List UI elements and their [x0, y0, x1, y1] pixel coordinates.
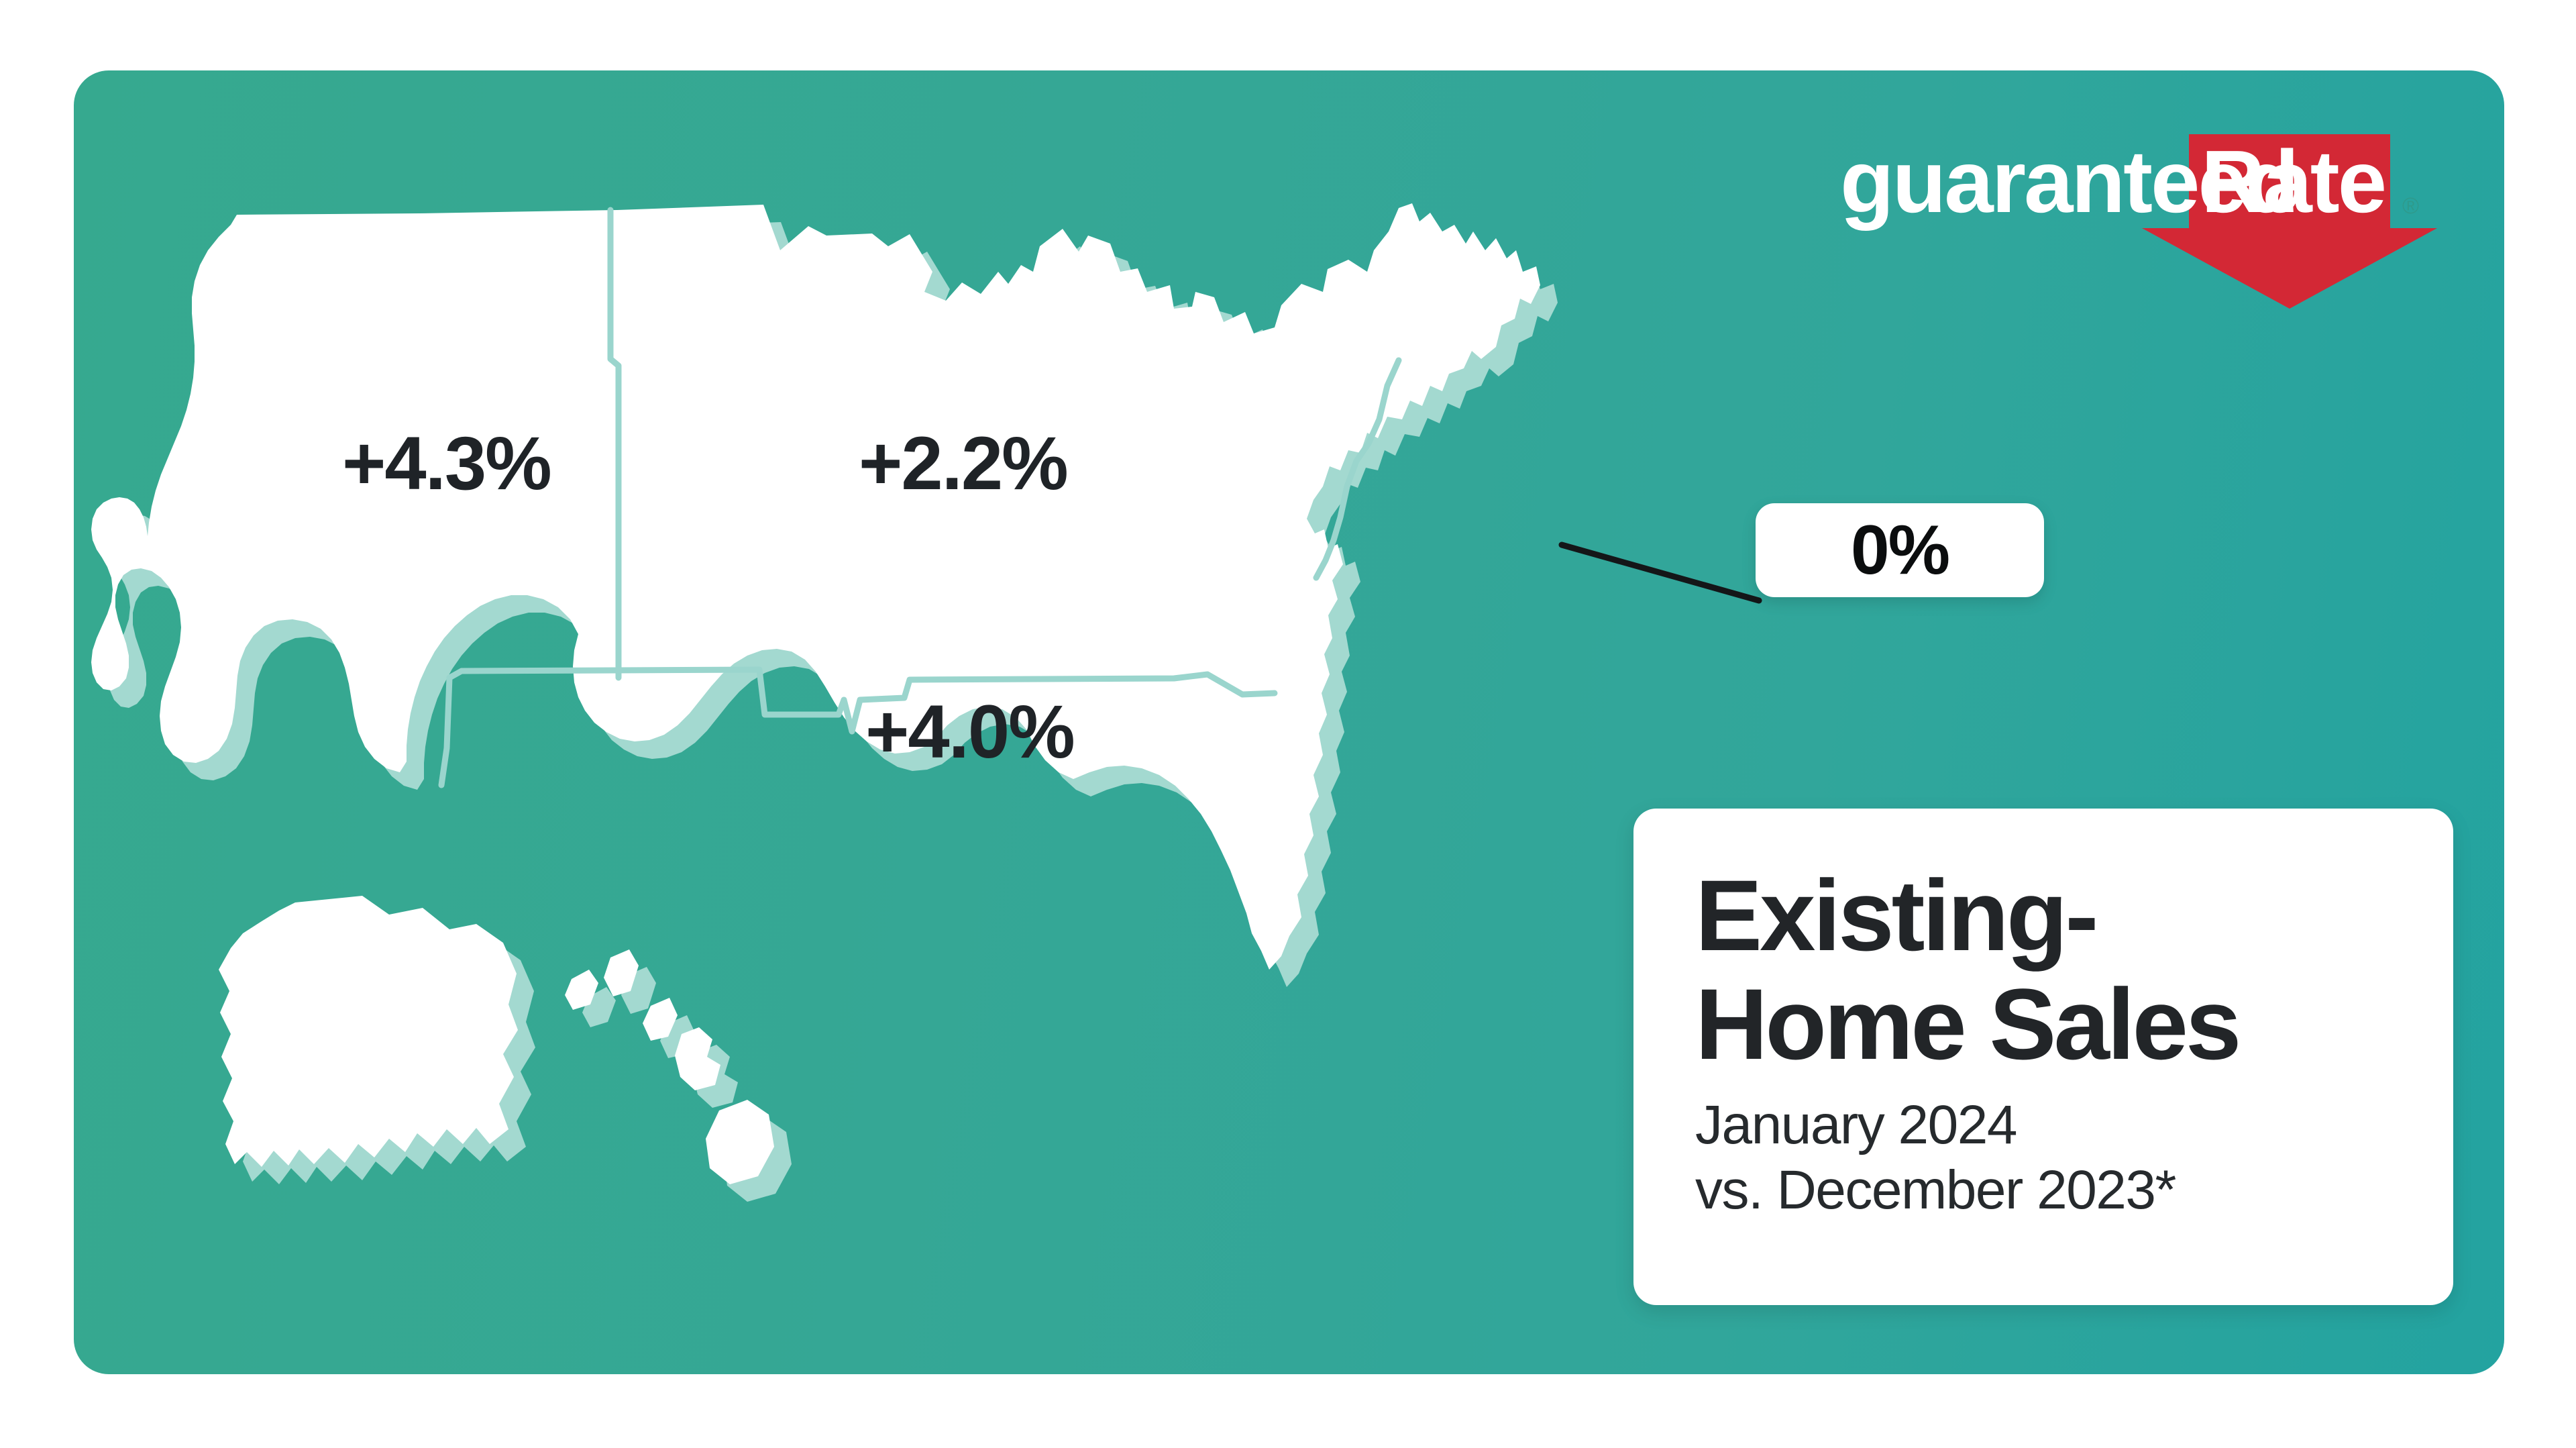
- infographic-card: +4.3% +2.2% +4.0% 0% guaranteed Rate ® E…: [74, 70, 2504, 1374]
- guaranteed-rate-logo: guaranteed Rate ®: [1833, 127, 2437, 309]
- map-alaska: [219, 896, 518, 1167]
- map-hawaii: [565, 949, 774, 1184]
- logo-word-accent: Rate: [2201, 132, 2385, 231]
- callout-leader-line: [1562, 545, 1759, 601]
- logo-svg: guaranteed Rate ®: [1833, 127, 2437, 309]
- page-title: Existing- Home Sales: [1695, 861, 2453, 1078]
- callout-pill-northeast: 0%: [1756, 503, 2044, 597]
- title-card: Existing- Home Sales January 2024 vs. De…: [1633, 809, 2453, 1305]
- page-subtitle: January 2024 vs. December 2023*: [1695, 1093, 2453, 1223]
- registered-trademark-icon: ®: [2402, 193, 2419, 219]
- region-value-south: +4.0%: [865, 694, 1074, 770]
- region-value-west: +4.3%: [342, 426, 551, 501]
- divider-west-south: [441, 678, 449, 785]
- region-value-midwest: +2.2%: [859, 426, 1067, 501]
- callout-value: 0%: [1851, 515, 1949, 585]
